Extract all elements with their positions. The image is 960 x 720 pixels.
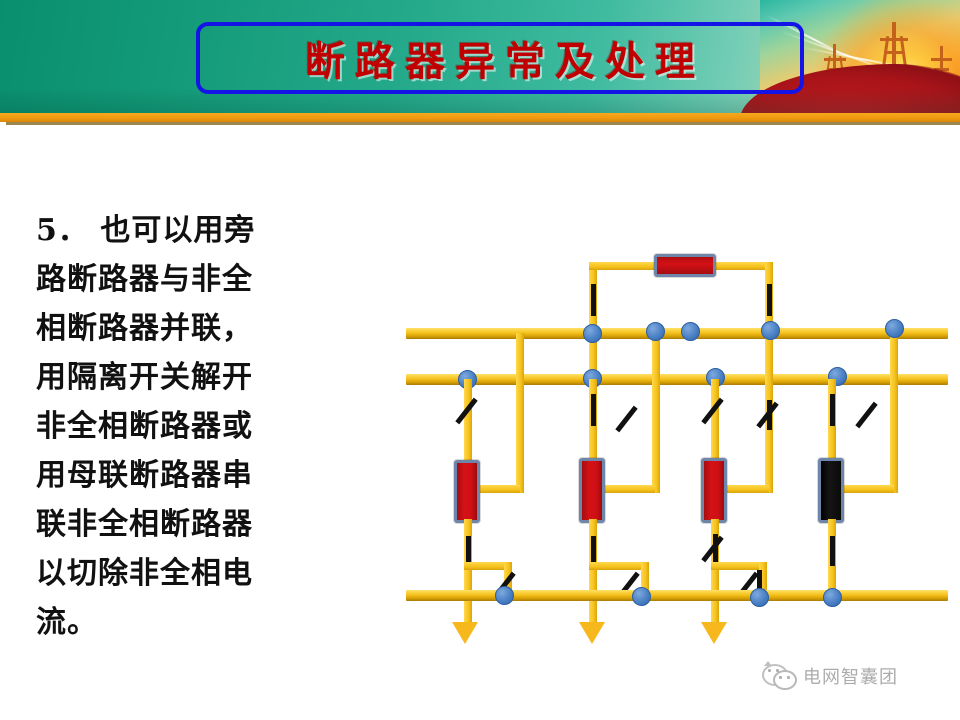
bay2-bypass-disconnect-switch[interactable] — [615, 406, 637, 433]
bay2-breaker[interactable] — [579, 458, 605, 523]
body-line: 5． 也可以用旁 — [36, 206, 366, 255]
page-title: 断路器异常及处理 — [295, 29, 705, 87]
transmission-tower-icon — [822, 44, 848, 92]
bay5-bypass-tap-wire — [890, 333, 898, 493]
body-line: 用母联断路器串 — [36, 451, 366, 500]
bay3-bypass-closed-switch[interactable] — [767, 400, 772, 430]
bay4-bypass-disconnect-switch[interactable] — [855, 402, 877, 429]
single-line-diagram — [398, 236, 958, 666]
node — [495, 586, 514, 605]
bay2-feeder-arrow — [579, 622, 605, 644]
bay4-non-full-phase-breaker[interactable] — [818, 458, 844, 523]
busbar-section-2 — [406, 590, 948, 601]
body-line: 联非全相断路器 — [36, 500, 366, 549]
body-line: 流。 — [36, 598, 366, 647]
bay3-bypass-tap-wire — [652, 333, 660, 493]
transmission-tower-icon — [930, 46, 954, 90]
node — [885, 319, 904, 338]
bay1-bypass-tap-wire — [516, 333, 524, 493]
bay3-breaker[interactable] — [701, 458, 727, 523]
body-line: 相断路器并联， — [36, 304, 366, 353]
node — [750, 588, 769, 607]
bypass-left-disconnect-switch[interactable] — [591, 284, 596, 316]
node — [823, 588, 842, 607]
busbar-section-1 — [406, 374, 948, 385]
watermark-text: 电网智囊团 — [803, 663, 898, 689]
slide-canvas: 断路器异常及处理 5． 也可以用旁 路断路器与非全 相断路器并联， 用隔离开关解… — [0, 0, 960, 720]
banner-gold-rule-shadow — [6, 122, 960, 125]
bay2-upper-closed-switch[interactable] — [591, 394, 596, 426]
transmission-tower-icon — [878, 22, 910, 84]
bay2-lower-cross-wire — [589, 562, 649, 570]
node — [632, 587, 651, 606]
bay3-feeder-arrow — [701, 622, 727, 644]
bypass-breaker[interactable] — [654, 254, 716, 277]
body-line: 用隔离开关解开 — [36, 353, 366, 402]
node — [646, 322, 665, 341]
bypass-top-right-wire — [711, 262, 773, 270]
banner-gold-rule — [0, 113, 960, 122]
bay3-lower-closed-switch[interactable] — [713, 534, 718, 564]
node — [583, 324, 602, 343]
slide-body-text: 5． 也可以用旁 路断路器与非全 相断路器并联， 用隔离开关解开 非全相断路器或… — [36, 206, 366, 647]
slide-header-banner: 断路器异常及处理 — [0, 0, 960, 114]
bay4-upper-closed-switch[interactable] — [830, 394, 835, 426]
wechat-icon — [762, 664, 796, 688]
bypass-right-disconnect-switch[interactable] — [767, 284, 772, 316]
bay1-feeder-arrow — [452, 622, 478, 644]
bay4-lower-closed-switch[interactable] — [830, 536, 835, 566]
body-line: 非全相断路器或 — [36, 402, 366, 451]
node — [761, 321, 780, 340]
bypass-top-left-wire — [589, 262, 659, 270]
slide-title-box: 断路器异常及处理 — [196, 22, 804, 94]
node — [681, 322, 700, 341]
body-line: 以切除非全相电 — [36, 549, 366, 598]
watermark: 电网智囊团 — [762, 663, 898, 689]
body-line: 路断路器与非全 — [36, 255, 366, 304]
busbar-bypass — [406, 328, 948, 339]
bay1-breaker[interactable] — [454, 460, 480, 523]
